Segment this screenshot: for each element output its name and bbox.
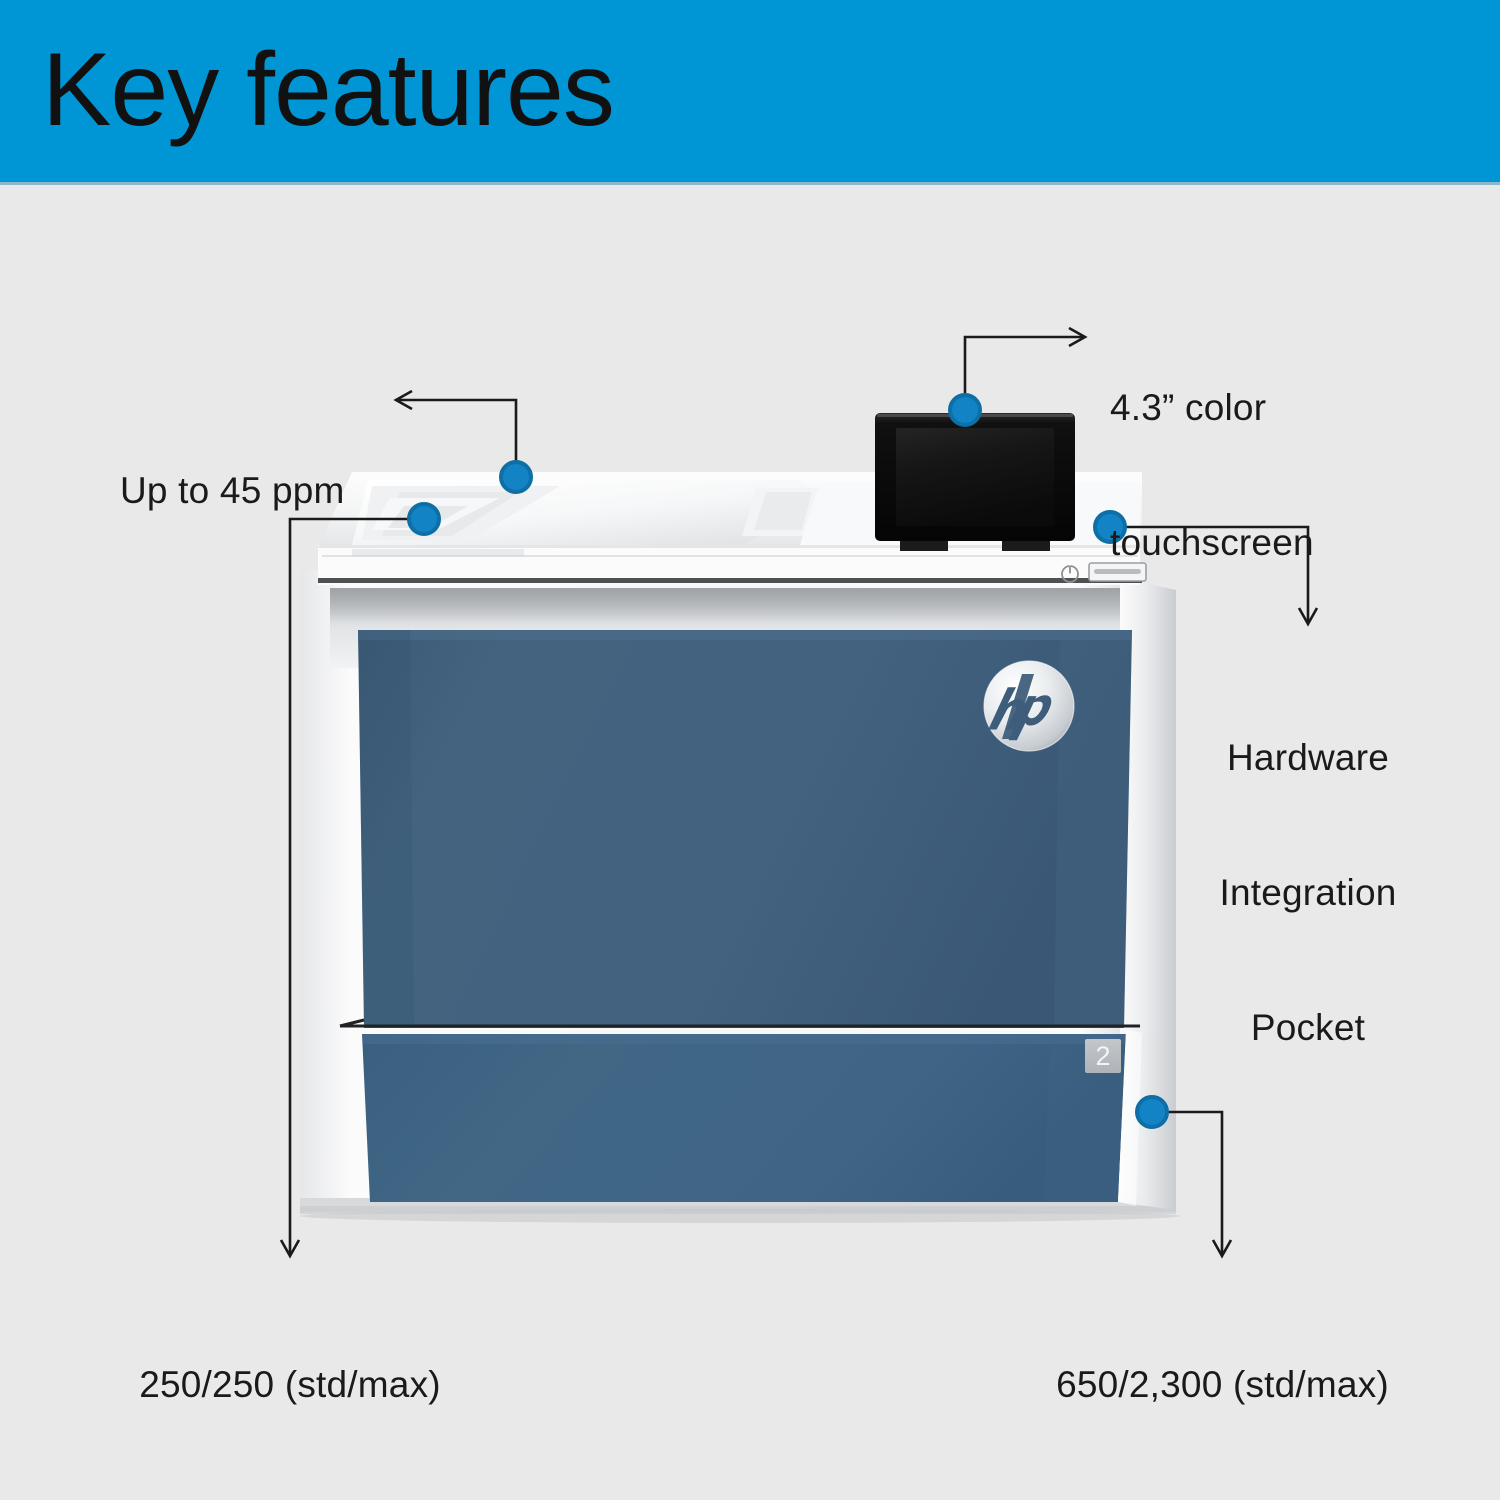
tray-number-badge: 2 — [1085, 1039, 1121, 1073]
annotation-speed: Up to 45 ppm — [120, 378, 400, 603]
annotation-output-capacity: 250/250 (std/max) sheets output capacity — [40, 1272, 540, 1500]
annotation-input-capacity: 650/2,300 (std/max) sheets input capacit… — [975, 1272, 1470, 1500]
annotation-touchscreen-line-2: touchscreen — [1110, 520, 1440, 565]
annotation-hip: Hardware Integration Pocket — [1148, 645, 1468, 1140]
annotation-speed-line-1: Up to 45 ppm — [120, 468, 400, 513]
screenshot-canvas: Key features — [0, 0, 1500, 1500]
annotation-output-capacity-line-1: 250/250 (std/max) — [40, 1362, 540, 1407]
svg-text:2: 2 — [1095, 1041, 1110, 1071]
annotation-hip-line-3: Pocket — [1148, 1005, 1468, 1050]
annotation-hip-line-2: Integration — [1148, 870, 1468, 915]
callout-dot-speed[interactable] — [499, 460, 533, 494]
annotation-hip-line-1: Hardware — [1148, 735, 1468, 780]
annotation-touchscreen-line-1: 4.3” color — [1110, 385, 1440, 430]
callout-dot-touchscreen[interactable] — [948, 393, 982, 427]
callout-dot-output[interactable] — [407, 502, 441, 536]
touchscreen-panel — [875, 413, 1075, 551]
annotation-input-capacity-line-1: 650/2,300 (std/max) — [975, 1362, 1470, 1407]
input-tray-2: 2 — [362, 1034, 1126, 1202]
annotation-touchscreen: 4.3” color touchscreen — [1110, 295, 1440, 655]
